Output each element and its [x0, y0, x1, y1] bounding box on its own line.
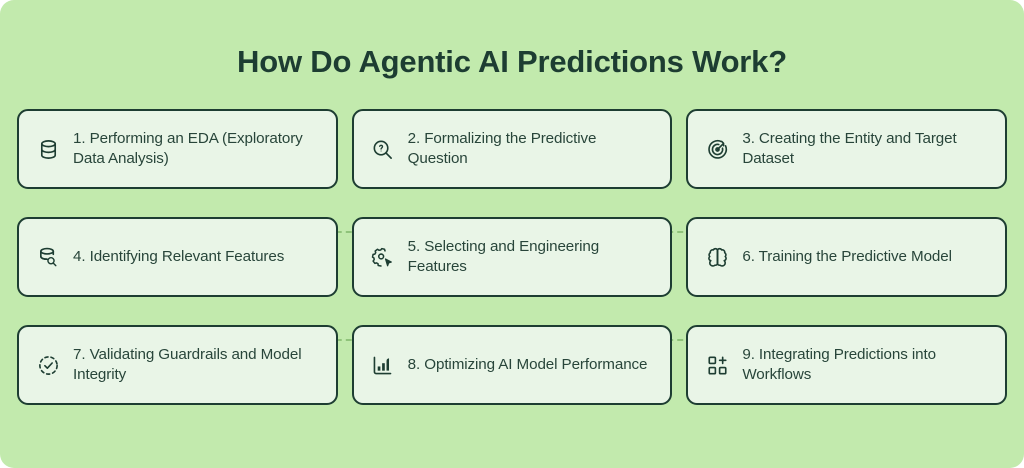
brain-icon	[705, 245, 729, 269]
dashed-circle-check-icon	[36, 353, 60, 377]
database-icon	[36, 137, 60, 161]
step-card-8[interactable]: 8. Optimizing AI Model Performance	[352, 325, 673, 405]
target-arrow-icon	[705, 137, 729, 161]
step-card-1[interactable]: 1. Performing an EDA (Exploratory Data A…	[17, 109, 338, 189]
page-title: How Do Agentic AI Predictions Work?	[0, 0, 1024, 80]
step-card-label: 3. Creating the Entity and Target Datase…	[742, 129, 989, 169]
step-card-7[interactable]: 7. Validating Guardrails and Model Integ…	[17, 325, 338, 405]
steps-row-1: 1. Performing an EDA (Exploratory Data A…	[17, 109, 1007, 189]
magnifier-question-icon	[371, 137, 395, 161]
step-card-2[interactable]: 2. Formalizing the Predictive Question	[352, 109, 673, 189]
step-card-label: 9. Integrating Predictions into Workflow…	[742, 345, 989, 385]
step-card-5[interactable]: 5. Selecting and Engineering Features	[352, 217, 673, 297]
steps-grid: 1. Performing an EDA (Exploratory Data A…	[17, 80, 1007, 405]
step-card-label: 4. Identifying Relevant Features	[73, 247, 284, 267]
database-search-icon	[36, 245, 60, 269]
step-card-label: 2. Formalizing the Predictive Question	[408, 129, 655, 169]
step-card-label: 1. Performing an EDA (Exploratory Data A…	[73, 129, 320, 169]
step-card-label: 6. Training the Predictive Model	[742, 247, 952, 267]
steps-row-3: 7. Validating Guardrails and Model Integ…	[17, 325, 1007, 405]
gear-cursor-icon	[371, 245, 395, 269]
step-card-4[interactable]: 4. Identifying Relevant Features	[17, 217, 338, 297]
grid-plus-icon	[705, 353, 729, 377]
step-card-label: 7. Validating Guardrails and Model Integ…	[73, 345, 320, 385]
step-card-label: 5. Selecting and Engineering Features	[408, 237, 655, 277]
step-card-label: 8. Optimizing AI Model Performance	[408, 355, 648, 375]
step-card-9[interactable]: 9. Integrating Predictions into Workflow…	[686, 325, 1007, 405]
step-card-3[interactable]: 3. Creating the Entity and Target Datase…	[686, 109, 1007, 189]
infographic-canvas: How Do Agentic AI Predictions Work?	[0, 0, 1024, 468]
steps-row-2: 4. Identifying Relevant Features 5. Sele…	[17, 217, 1007, 297]
bar-chart-icon	[371, 353, 395, 377]
step-card-6[interactable]: 6. Training the Predictive Model	[686, 217, 1007, 297]
